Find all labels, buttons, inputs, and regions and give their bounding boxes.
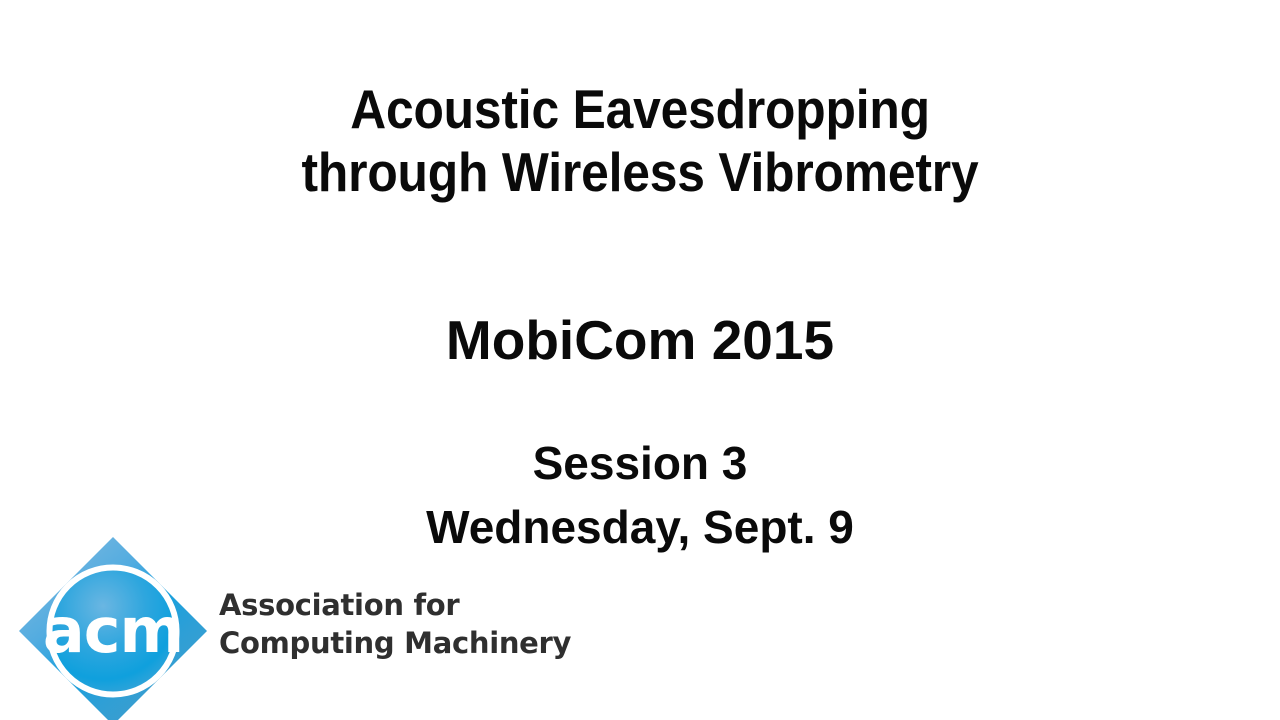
presentation-slide: Acoustic Eavesdropping through Wireless … bbox=[0, 0, 1280, 720]
acm-wordmark: Association for Computing Machinery bbox=[219, 586, 569, 662]
conference-name: MobiCom 2015 bbox=[0, 309, 1280, 371]
acm-wordmark-line-1: Association for bbox=[219, 586, 569, 624]
session-number: Session 3 bbox=[0, 431, 1280, 495]
acm-logo: acm Association for Computing Machinery bbox=[16, 534, 576, 720]
slide-title-line-2: through Wireless Vibrometry bbox=[61, 141, 1219, 204]
slide-title-line-1: Acoustic Eavesdropping bbox=[61, 78, 1219, 141]
acm-diamond-icon: acm bbox=[16, 534, 210, 720]
acm-wordmark-line-2: Computing Machinery bbox=[219, 624, 569, 662]
slide-title: Acoustic Eavesdropping through Wireless … bbox=[0, 78, 1280, 204]
acm-mark-text: acm bbox=[43, 594, 183, 667]
